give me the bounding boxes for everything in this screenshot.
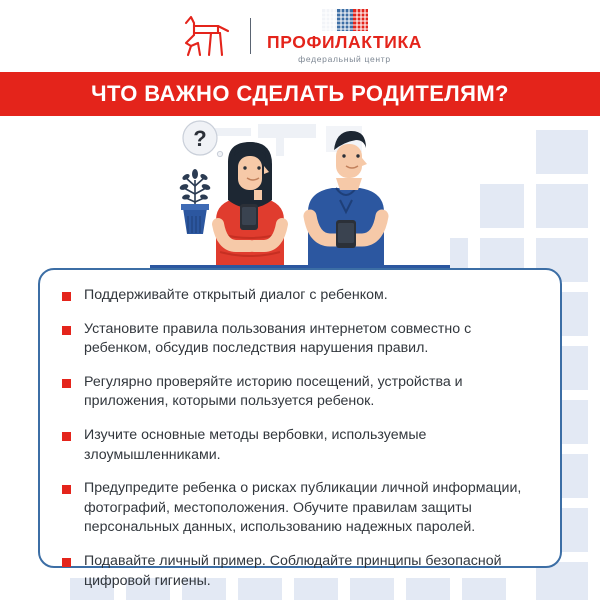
- horse-line-mark-icon: [178, 13, 234, 59]
- list-item: Подавайте личный пример. Соблюдайте прин…: [62, 552, 534, 591]
- tips-list: Поддерживайте открытый диалог с ребенком…: [62, 286, 534, 591]
- grid-square: [536, 184, 588, 228]
- svg-text:?: ?: [193, 126, 206, 151]
- poster-root: ПРОФИЛАКТИКА федеральный центр ЧТО ВАЖНО…: [0, 0, 600, 600]
- logo-divider: [250, 18, 251, 54]
- russian-flag-grid-icon: [322, 9, 368, 31]
- tip-text: Установите правила пользования интернето…: [84, 320, 534, 359]
- bullet-square-icon: [62, 432, 71, 441]
- tip-text: Подавайте личный пример. Соблюдайте прин…: [84, 552, 534, 591]
- bullet-square-icon: [62, 485, 71, 494]
- parents-with-smartphones-illustration: ?: [150, 116, 450, 276]
- page-title: ЧТО ВАЖНО СДЕЛАТЬ РОДИТЕЛЯМ?: [91, 81, 509, 107]
- list-item: Предупредите ребенка о рисках публикации…: [62, 479, 534, 538]
- illustration-svg: ?: [150, 116, 450, 276]
- bullet-square-icon: [62, 379, 71, 388]
- brand-name: ПРОФИЛАКТИКА: [267, 34, 422, 52]
- tips-card: Поддерживайте открытый диалог с ребенком…: [38, 268, 562, 568]
- brand-block: ПРОФИЛАКТИКА федеральный центр: [267, 9, 422, 63]
- grid-square: [536, 130, 588, 174]
- tip-text: Поддерживайте открытый диалог с ребенком…: [84, 286, 388, 306]
- tip-text: Предупредите ребенка о рисках публикации…: [84, 479, 534, 538]
- logo-bar: ПРОФИЛАКТИКА федеральный центр: [0, 0, 600, 72]
- list-item: Изучите основные методы вербовки, исполь…: [62, 426, 534, 465]
- grid-square: [480, 184, 524, 228]
- bullet-square-icon: [62, 292, 71, 301]
- brand-subtitle: федеральный центр: [298, 55, 391, 64]
- bullet-square-icon: [62, 326, 71, 335]
- bullet-square-icon: [62, 558, 71, 567]
- list-item: Поддерживайте открытый диалог с ребенком…: [62, 286, 534, 306]
- list-item: Регулярно проверяйте историю посещений, …: [62, 373, 534, 412]
- tip-text: Изучите основные методы вербовки, исполь…: [84, 426, 534, 465]
- list-item: Установите правила пользования интернето…: [62, 320, 534, 359]
- tip-text: Регулярно проверяйте историю посещений, …: [84, 373, 534, 412]
- headline-band: ЧТО ВАЖНО СДЕЛАТЬ РОДИТЕЛЯМ?: [0, 72, 600, 116]
